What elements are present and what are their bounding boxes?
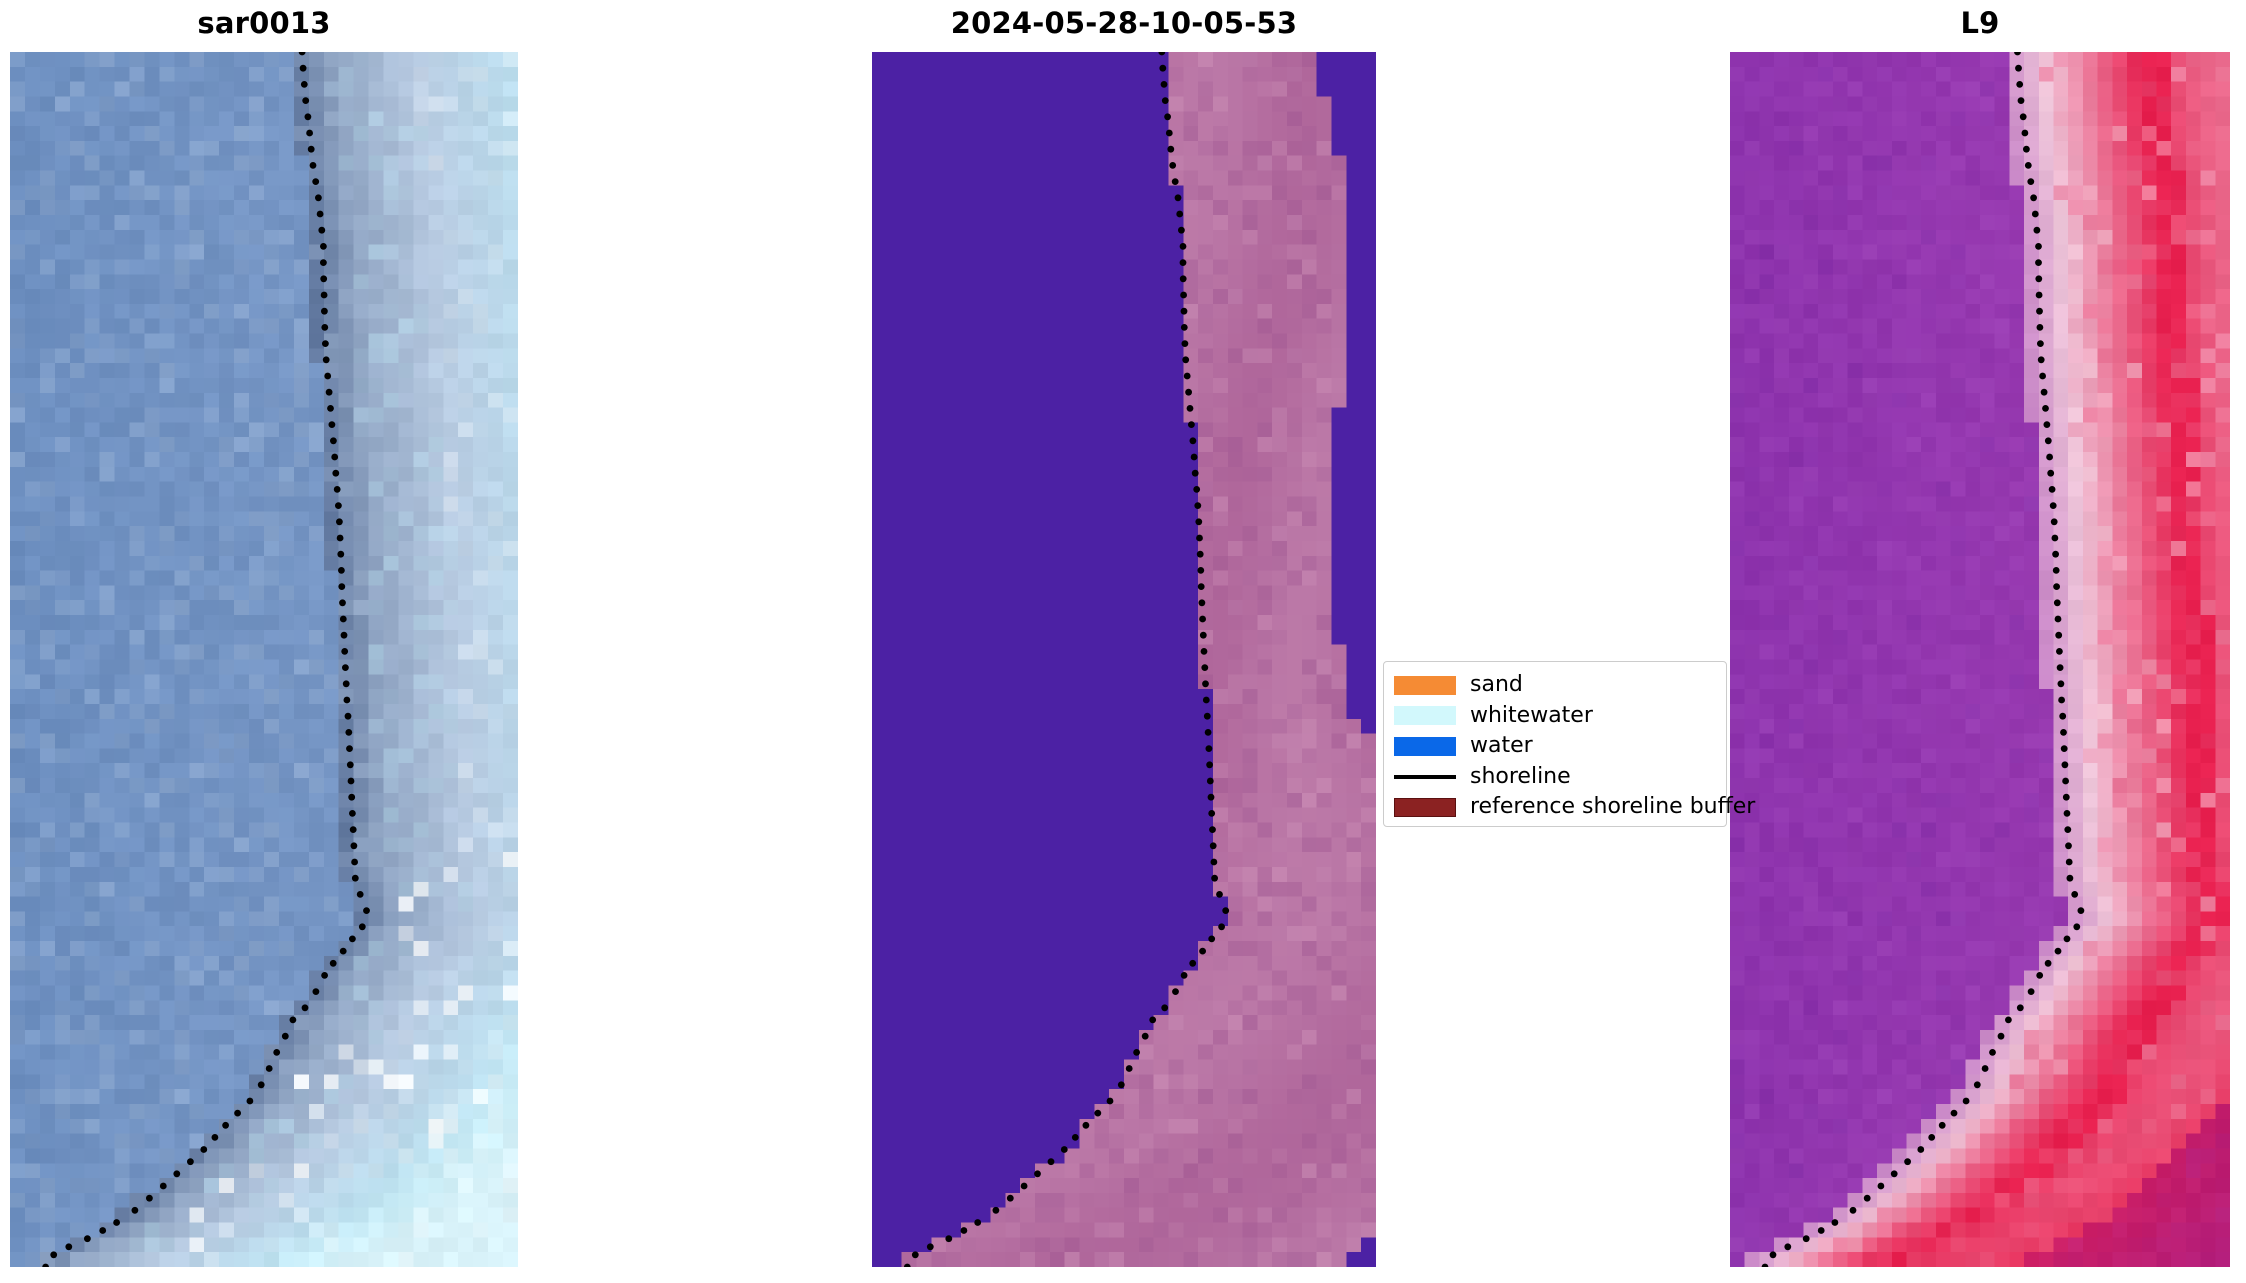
reference-buffer-swatch-icon (1394, 798, 1456, 817)
panel-sar0013: sar0013 (10, 0, 518, 1267)
legend-label-shoreline: shoreline (1470, 766, 1571, 788)
legend-label-water: water (1470, 735, 1533, 757)
shoreline-overlay-sar0013 (10, 52, 518, 1267)
panel-title-sar0013: sar0013 (10, 6, 518, 40)
legend-label-sand: sand (1470, 674, 1523, 696)
water-swatch-icon (1394, 737, 1456, 756)
legend-item-sand[interactable]: sand (1394, 670, 1716, 701)
shoreline-overlay-l9 (1730, 52, 2230, 1267)
legend-label-whitewater: whitewater (1470, 705, 1593, 727)
panel-title-l9: L9 (1730, 6, 2230, 40)
panel-image-classified[interactable] (872, 52, 1376, 1267)
shoreline-line-icon (1394, 767, 1456, 786)
shoreline-overlay-classified (872, 52, 1376, 1267)
legend-item-shoreline[interactable]: shoreline (1394, 762, 1716, 793)
legend-label-reference-buffer: reference shoreline buffer (1470, 796, 1755, 818)
legend-box[interactable]: sand whitewater water shoreline referenc… (1383, 661, 1727, 827)
figure-root: sar0013 2024-05-28-10-05-53 L9 sand whit… (0, 0, 2246, 1283)
panel-image-l9[interactable] (1730, 52, 2230, 1267)
legend-item-water[interactable]: water (1394, 731, 1716, 762)
whitewater-swatch-icon (1394, 706, 1456, 725)
legend-item-reference-buffer[interactable]: reference shoreline buffer (1394, 792, 1716, 823)
panel-classified: 2024-05-28-10-05-53 (872, 0, 1376, 1267)
panel-image-sar0013[interactable] (10, 52, 518, 1267)
legend-item-whitewater[interactable]: whitewater (1394, 701, 1716, 732)
panel-l9: L9 (1730, 0, 2230, 1267)
panel-title-classified: 2024-05-28-10-05-53 (872, 6, 1376, 40)
sand-swatch-icon (1394, 676, 1456, 695)
